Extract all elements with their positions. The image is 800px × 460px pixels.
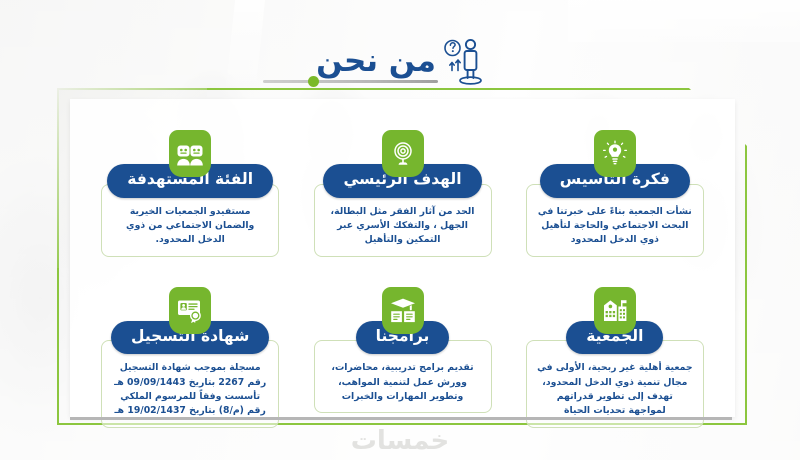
building-institution-icon	[594, 287, 636, 334]
page-heading: من نحن	[0, 34, 800, 92]
card-association[interactable]: الجمعية جمعية أهلية غير ربحية، الأولى في…	[511, 269, 719, 428]
card-our-programs[interactable]: برامجنا تقديم برامج تدريبية، محاضرات، وو…	[298, 269, 506, 428]
watermark: خمسات	[0, 428, 800, 454]
card-founding-idea[interactable]: فكرة التأسيس نشأت الجمعية بناءً على خبرت…	[511, 112, 719, 257]
card-target-group[interactable]: الفئة المستهدفة مستفيدو الجمعيات الخيرية…	[86, 112, 294, 257]
page-title: من نحن	[316, 46, 436, 81]
heading-accent-dot	[308, 76, 319, 87]
card-grid: فكرة التأسيس نشأت الجمعية بناءً على خبرت…	[70, 108, 735, 408]
people-group-icon	[169, 130, 211, 177]
infographic-canvas: من نحن	[0, 0, 800, 460]
card-main-objective[interactable]: الهدف الرئيسي الحد من آثار الفقر مثل الب…	[298, 112, 506, 257]
card-registration-certificate[interactable]: شهادة التسجيل مسجلة بموجب شهادة التسجيل …	[86, 269, 294, 428]
lightbulb-idea-icon	[594, 130, 636, 177]
graduation-book-icon	[382, 287, 424, 334]
target-bullseye-icon	[382, 130, 424, 177]
heading-underline	[263, 80, 438, 83]
certificate-badge-icon	[169, 287, 211, 334]
person-question-icon	[440, 37, 484, 89]
bottom-divider	[70, 417, 732, 420]
